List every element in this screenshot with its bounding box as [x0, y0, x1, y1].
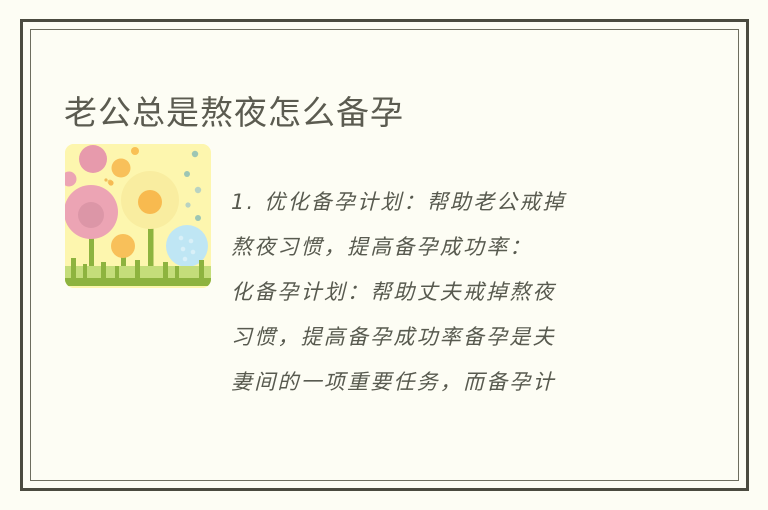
text-line: 妻间的一项重要任务，而备孕计	[231, 360, 651, 405]
article-card-body: 老公总是熬夜怎么备孕	[31, 30, 738, 480]
article-body-text: 1. 优化备孕计划：帮助老公戒掉 熬夜习惯，提高备孕成功率： 化备孕计划：帮助丈…	[231, 180, 651, 405]
article-card-outer-border: 老公总是熬夜怎么备孕	[20, 19, 749, 491]
page-title: 老公总是熬夜怎么备孕	[64, 92, 404, 134]
flower-garden-illustration	[63, 142, 213, 290]
text-line: 化备孕计划：帮助丈夫戒掉熬夜	[231, 270, 651, 315]
article-thumbnail	[63, 142, 213, 290]
text-line: 1. 优化备孕计划：帮助老公戒掉	[231, 180, 651, 225]
text-line: 熬夜习惯，提高备孕成功率：	[231, 225, 651, 270]
document-page: 老公总是熬夜怎么备孕	[0, 0, 768, 510]
text-line: 习惯，提高备孕成功率备孕是夫	[231, 315, 651, 360]
article-card-inner-border: 老公总是熬夜怎么备孕	[30, 29, 739, 481]
